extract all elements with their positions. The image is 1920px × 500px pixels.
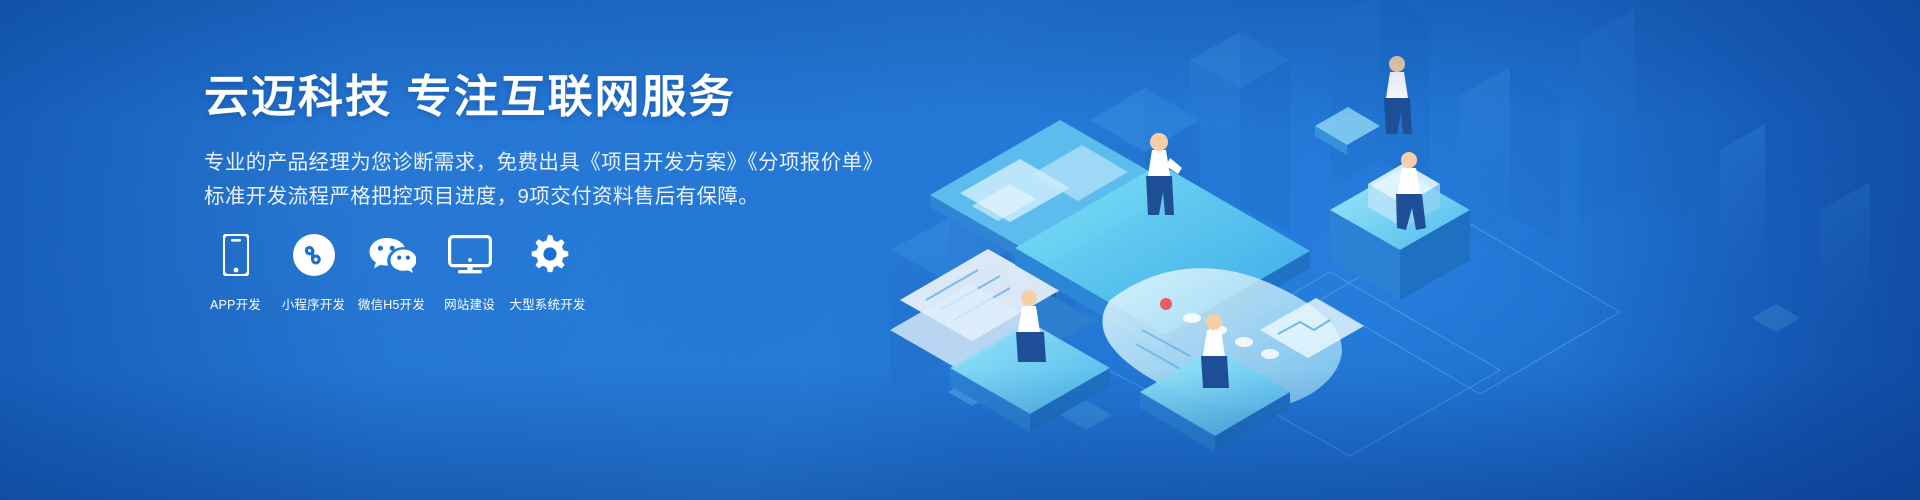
isometric-illustration — [860, 0, 1920, 500]
service-label: 微信H5开发 — [358, 294, 425, 313]
service-label: 小程序开发 — [282, 294, 346, 313]
service-item-app[interactable]: APP开发 — [200, 232, 271, 313]
service-item-website[interactable]: 网站建设 — [434, 232, 505, 313]
banner-subtitle: 专业的产品经理为您诊断需求，免费出具《项目开发方案》《分项报价单》 标准开发流程… — [204, 146, 924, 214]
page-title: 云迈科技 专注互联网服务 — [204, 70, 924, 124]
hero-banner: 云迈科技 专注互联网服务 专业的产品经理为您诊断需求，免费出具《项目开发方案》《… — [0, 0, 1920, 500]
service-label: 网站建设 — [444, 294, 495, 313]
wechat-icon — [368, 232, 416, 278]
service-label: APP开发 — [210, 294, 261, 313]
service-item-system[interactable]: 大型系统开发 — [512, 232, 583, 313]
service-item-wechat[interactable]: 微信H5开发 — [356, 232, 427, 313]
service-list: APP开发 小程序开发 — [200, 232, 583, 313]
gear-icon — [527, 232, 569, 278]
mini-program-icon — [293, 232, 335, 278]
banner-content: 云迈科技 专注互联网服务 专业的产品经理为您诊断需求，免费出具《项目开发方案》《… — [204, 70, 924, 214]
mobile-phone-icon — [223, 232, 249, 278]
subtitle-line-1: 专业的产品经理为您诊断需求，免费出具《项目开发方案》《分项报价单》 — [204, 146, 924, 180]
monitor-icon — [448, 232, 492, 278]
subtitle-line-2: 标准开发流程严格把控项目进度，9项交付资料售后有保障。 — [204, 180, 924, 214]
service-label: 大型系统开发 — [509, 294, 585, 313]
service-item-miniprogram[interactable]: 小程序开发 — [278, 232, 349, 313]
